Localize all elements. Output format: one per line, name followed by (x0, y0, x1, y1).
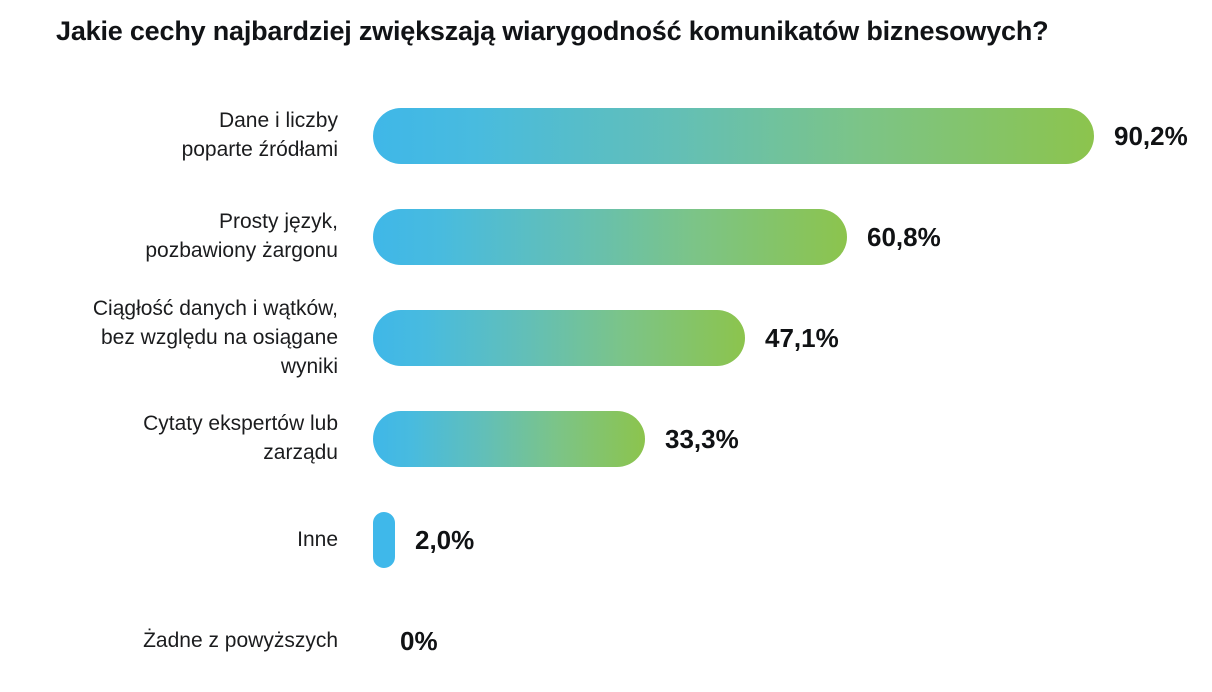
bar (373, 108, 1094, 164)
bar-value-label: 60,8% (867, 209, 941, 265)
bar-row: Cytaty ekspertów lub zarządu33,3% (0, 389, 1212, 490)
bar (373, 512, 395, 568)
category-label: Prosty język, pozbawiony żargonu (8, 207, 338, 265)
bar-value-label: 2,0% (415, 512, 474, 568)
bar-value-label: 33,3% (665, 411, 739, 467)
bar-track (373, 613, 374, 669)
bar (373, 209, 847, 265)
bar-row: Żadne z powyższych0% (0, 591, 1212, 692)
bar-value-label: 0% (400, 613, 438, 669)
bar-track (373, 512, 395, 568)
bar-row: Inne2,0% (0, 490, 1212, 591)
bar-row: Dane i liczby poparte źródłami90,2% (0, 86, 1212, 187)
bar-track (373, 310, 745, 366)
chart-plot-area: Dane i liczby poparte źródłami90,2%Prost… (0, 86, 1212, 692)
bar-track (373, 411, 645, 467)
bar-value-label: 90,2% (1114, 108, 1188, 164)
category-label: Cytaty ekspertów lub zarządu (8, 409, 338, 467)
category-label: Ciągłość danych i wątków, bez względu na… (8, 294, 338, 381)
category-label: Dane i liczby poparte źródłami (8, 106, 338, 164)
bar (373, 411, 645, 467)
bar-row: Ciągłość danych i wątków, bez względu na… (0, 288, 1212, 389)
chart-title: Jakie cechy najbardziej zwiększają wiary… (56, 16, 1176, 47)
category-label: Żadne z powyższych (8, 626, 338, 655)
category-label: Inne (8, 525, 338, 554)
bar-row: Prosty język, pozbawiony żargonu60,8% (0, 187, 1212, 288)
bar (373, 310, 745, 366)
bar-value-label: 47,1% (765, 310, 839, 366)
bar-track (373, 209, 847, 265)
bar-track (373, 108, 1094, 164)
